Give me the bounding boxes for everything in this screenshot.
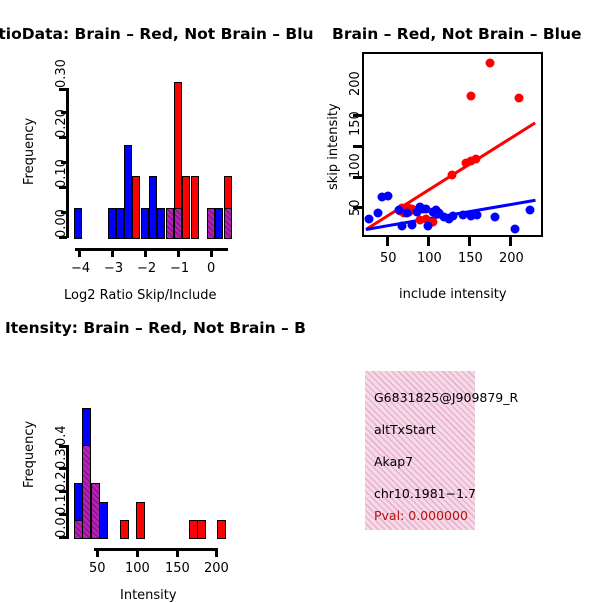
scatter-plot-area[interactable] [362, 52, 543, 237]
scatter-x-ticklabel-200: 200 [499, 251, 524, 266]
scatter-y-tick-50 [353, 206, 362, 209]
info-gene-name: Akap7 [374, 454, 413, 469]
scatter-y-tick-150 [353, 145, 362, 148]
ratio-y-minortick-2 [61, 111, 67, 114]
intensity-histogram-title: ne Itensity: Brain – Red, Not Brain – B [0, 319, 306, 337]
intensity-histogram-panel: ne Itensity: Brain – Red, Not Brain – B … [0, 300, 300, 600]
scatter-point [511, 225, 520, 234]
ratio-x-tick--3 [111, 248, 114, 257]
scatter-point [514, 93, 523, 102]
histogram-bar [174, 208, 182, 239]
scatter-y-ticklabel-200: 200 [348, 71, 363, 96]
scatter-y-ticklabel-100: 100 [348, 153, 363, 178]
intensity-x-ticklabel-100: 100 [125, 561, 150, 576]
ratio-x-tick--2 [144, 248, 147, 257]
scatter-point [525, 206, 534, 215]
intensity-y-tick-2 [59, 490, 67, 493]
ratio-y-majortick-3 [59, 88, 67, 91]
intensity-x-ticklabel-200: 200 [204, 561, 229, 576]
scatter-point [398, 222, 407, 231]
intensity-histogram-ylabel: Frequency [22, 421, 37, 488]
histogram-bar [166, 208, 174, 239]
histogram-bar [149, 176, 157, 239]
scatter-point [466, 92, 475, 101]
ratio-y-majortick-1 [59, 186, 67, 189]
histogram-bar [207, 208, 215, 239]
scatter-x-tick-150 [468, 237, 471, 246]
intensity-x-tick-100 [136, 548, 139, 557]
ratio-x-ticklabel-0: 0 [207, 261, 215, 276]
ratio-y-minortick-1 [61, 161, 67, 164]
scatter-panel: Brain – Red, Not Brain – Blue skip inten… [300, 0, 600, 300]
scatter-title: Brain – Red, Not Brain – Blue [332, 25, 582, 43]
intensity-y-tick-3 [59, 467, 67, 470]
scatter-point [471, 155, 480, 164]
histogram-bar [224, 208, 232, 239]
ratio-histogram-ylabel: Frequency [22, 118, 37, 185]
scatter-point [403, 209, 412, 218]
histogram-bar [136, 502, 145, 539]
histogram-bar [74, 208, 82, 239]
info-panel-container: G6831825@J909879_R altTxStart Akap7 chr1… [300, 300, 600, 600]
scatter-point [447, 171, 456, 180]
ratio-x-axis [75, 248, 228, 251]
ratio-y-majortick-2 [59, 136, 67, 139]
intensity-x-ticklabel-50: 50 [89, 561, 106, 576]
histogram-bar [217, 520, 226, 539]
scatter-point [407, 220, 416, 229]
histogram-bar [99, 502, 108, 539]
intensity-y-tick-1 [59, 513, 67, 516]
scatter-x-ticklabel-50: 50 [380, 251, 397, 266]
intensity-x-tick-150 [176, 548, 179, 557]
info-locus: chr10.1981−1.7 [374, 486, 476, 501]
ratio-histogram-panel: RatioData: Brain – Red, Not Brain – Blu … [0, 0, 300, 300]
ratio-histogram-bars [70, 79, 236, 239]
histogram-bar [191, 176, 199, 239]
scatter-x-tick-200 [509, 237, 512, 246]
intensity-y-tick-4 [59, 445, 67, 448]
intensity-y-tick-0 [59, 536, 67, 539]
scatter-ylabel: skip intensity [326, 103, 341, 190]
histogram-bar [132, 176, 140, 239]
ratio-x-tick--4 [78, 248, 81, 257]
scatter-y-tick-200 [353, 114, 362, 117]
scatter-x-ticklabel-150: 150 [458, 251, 483, 266]
intensity-x-axis [94, 548, 218, 551]
info-pval: Pval: 0.000000 [374, 508, 468, 523]
ratio-y-majortick-0 [59, 236, 67, 239]
histogram-bar [120, 520, 129, 539]
scatter-x-tick-100 [427, 237, 430, 246]
scatter-x-ticklabel-100: 100 [417, 251, 442, 266]
ratio-histogram-title: RatioData: Brain – Red, Not Brain – Blu [0, 25, 314, 43]
scatter-point [490, 212, 499, 221]
histogram-bar [215, 208, 223, 239]
scatter-x-tick-50 [386, 237, 389, 246]
ratio-x-tick-0 [210, 248, 213, 257]
scatter-point [423, 222, 432, 231]
histogram-bar [108, 208, 116, 239]
scatter-point [485, 58, 494, 67]
histogram-bar [157, 208, 165, 239]
intensity-x-tick-50 [96, 548, 99, 557]
ratio-y-tick-3: 0.30 [54, 59, 69, 88]
intensity-y-ticklabel-4: 0.4 [54, 425, 69, 446]
histogram-bar [116, 208, 124, 239]
histogram-bar [91, 483, 100, 539]
ratio-y-minortick-0 [61, 211, 67, 214]
scatter-point [374, 209, 383, 218]
ratio-x-ticklabel--2: −2 [137, 261, 156, 276]
ratio-x-ticklabel--3: −3 [104, 261, 123, 276]
ratio-x-tick--1 [177, 248, 180, 257]
scatter-y-tick-100 [353, 176, 362, 179]
intensity-x-tick-200 [215, 548, 218, 557]
intensity-histogram-xlabel: Intensity [120, 588, 177, 603]
scatter-point [473, 211, 482, 220]
ratio-x-ticklabel--1: −1 [170, 261, 189, 276]
histogram-bar [197, 520, 206, 539]
intensity-x-ticklabel-150: 150 [165, 561, 190, 576]
ratio-x-ticklabel--4: −4 [71, 261, 90, 276]
histogram-bar [141, 208, 149, 239]
histogram-bar [124, 145, 132, 239]
scatter-point [383, 191, 392, 200]
info-probe-id: G6831825@J909879_R [374, 390, 518, 405]
scatter-point [449, 212, 458, 221]
histogram-bar [182, 176, 190, 239]
scatter-point [364, 214, 373, 223]
intensity-histogram-bars [70, 407, 236, 539]
info-event-type: altTxStart [374, 422, 436, 437]
